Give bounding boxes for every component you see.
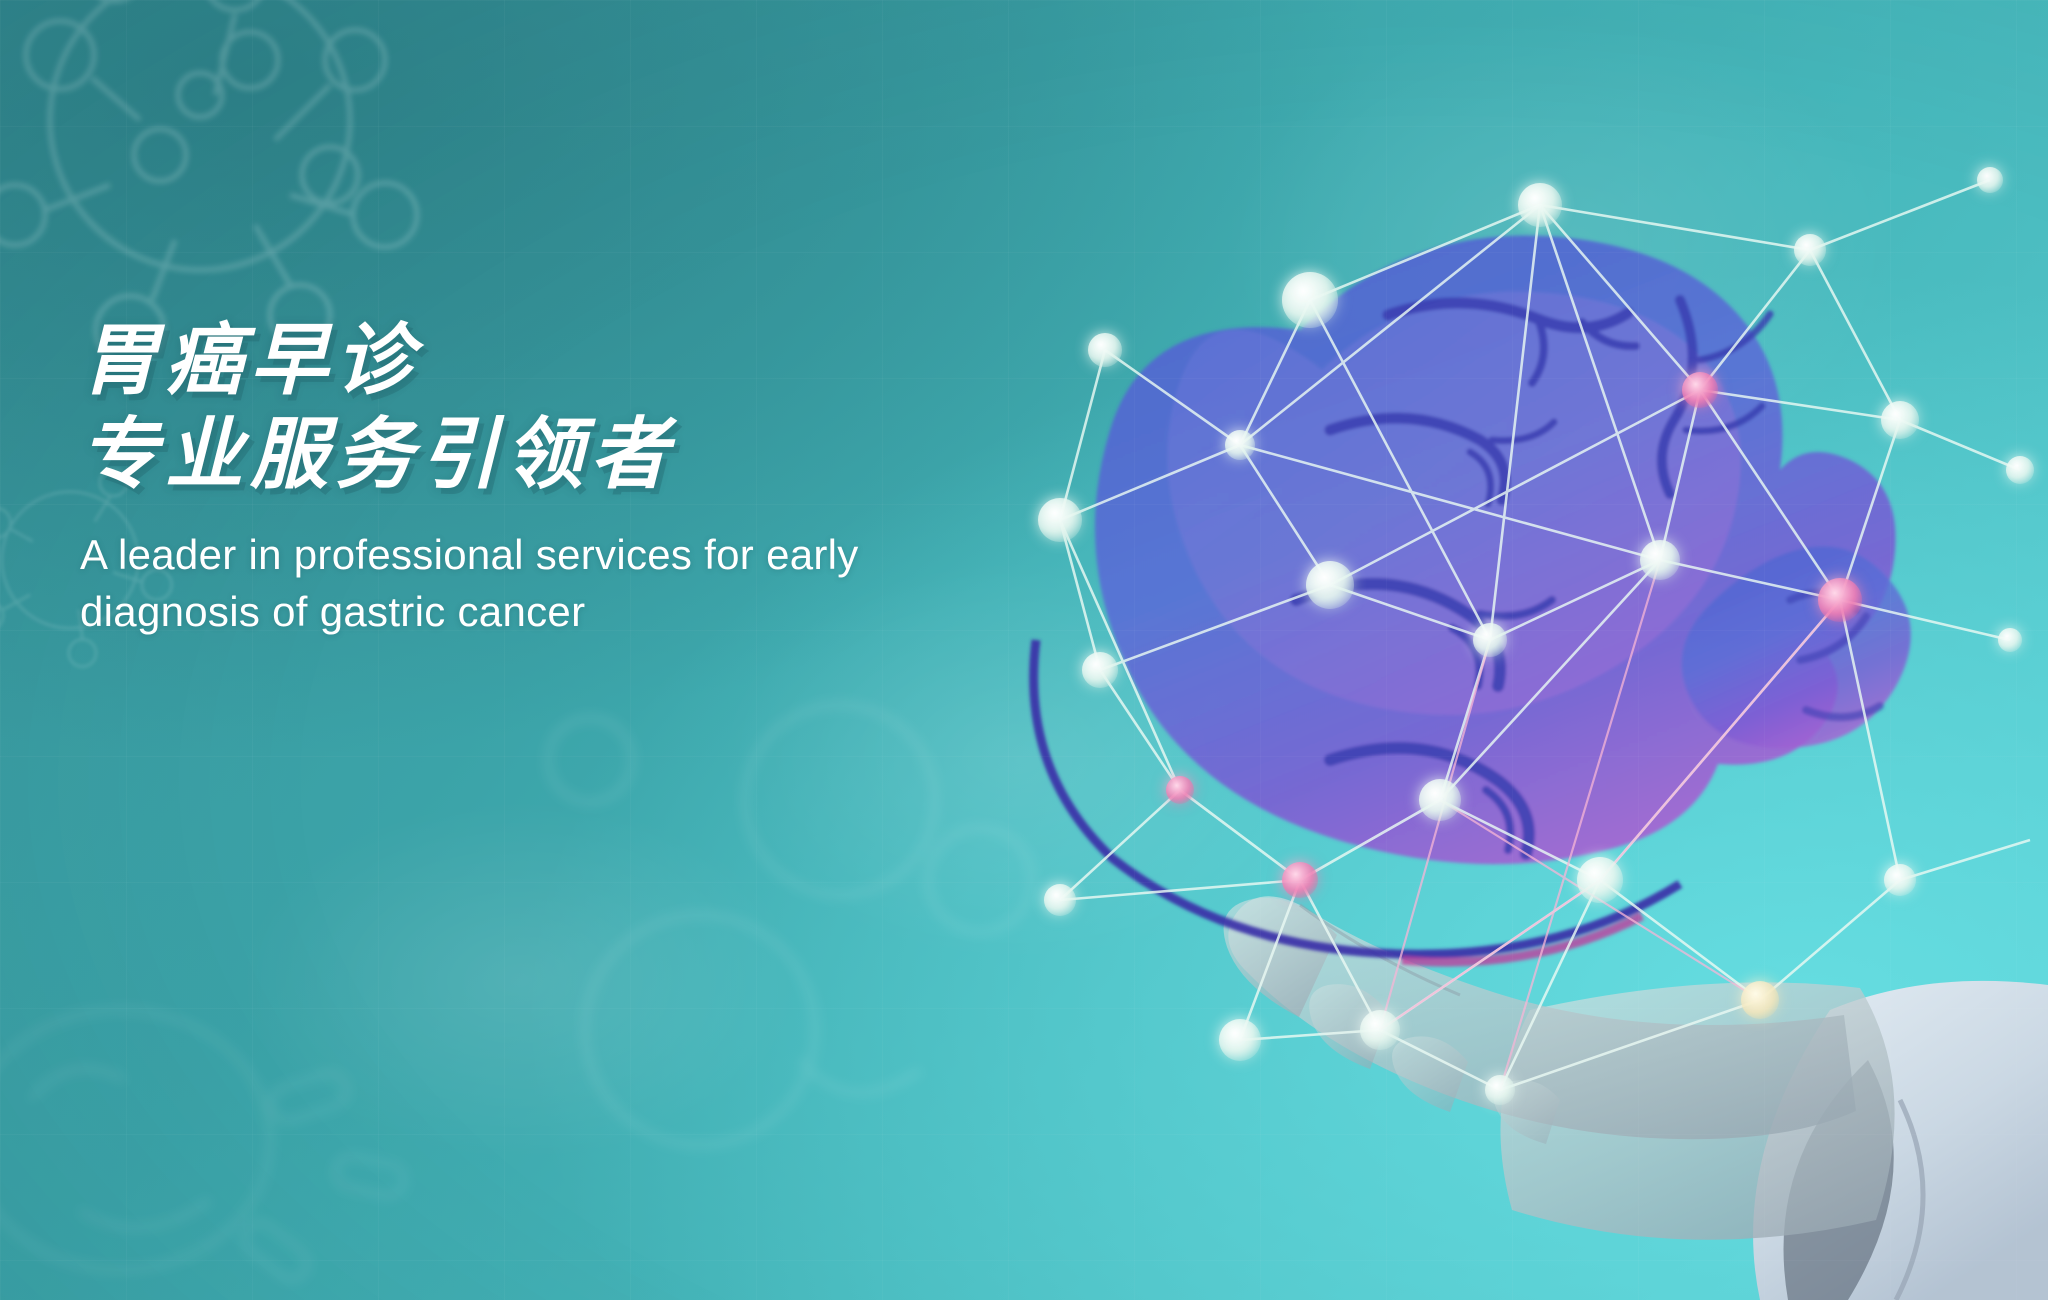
subtitle-line-2: diagnosis of gastric cancer (80, 583, 980, 640)
headline-line-1: 胃癌早诊 (80, 318, 980, 402)
network-lines (1060, 180, 2030, 1090)
headline-block: 胃癌早诊 专业服务引领者 A leader in professional se… (80, 318, 980, 640)
light-blob-2 (240, 800, 800, 1160)
vignette (0, 0, 2048, 1300)
banner-root: 胃癌早诊 专业服务引领者 A leader in professional se… (0, 0, 2048, 1300)
artwork-hand-stomach-network (0, 0, 2048, 1300)
subtitle-block: A leader in professional services for ea… (80, 526, 980, 640)
bacteria-watermark (0, 1010, 408, 1286)
subtitle-line-1: A leader in professional services for ea… (80, 526, 980, 583)
grid-texture (0, 0, 2048, 1300)
network-nodes (1038, 167, 2034, 1105)
lab-coat-sleeve (1753, 981, 2048, 1300)
virus-watermark-1 (0, 0, 417, 364)
background-watermarks (0, 0, 2048, 1300)
forearm (1500, 982, 1894, 1239)
open-hand (1224, 896, 1856, 1144)
stomach-illustration (1034, 235, 1911, 962)
network-lines-accent (1380, 560, 1840, 1090)
cell-watermark (548, 705, 1032, 1145)
headline-line-2: 专业服务引领者 (80, 412, 980, 496)
light-blob-3 (1220, 10, 1900, 490)
